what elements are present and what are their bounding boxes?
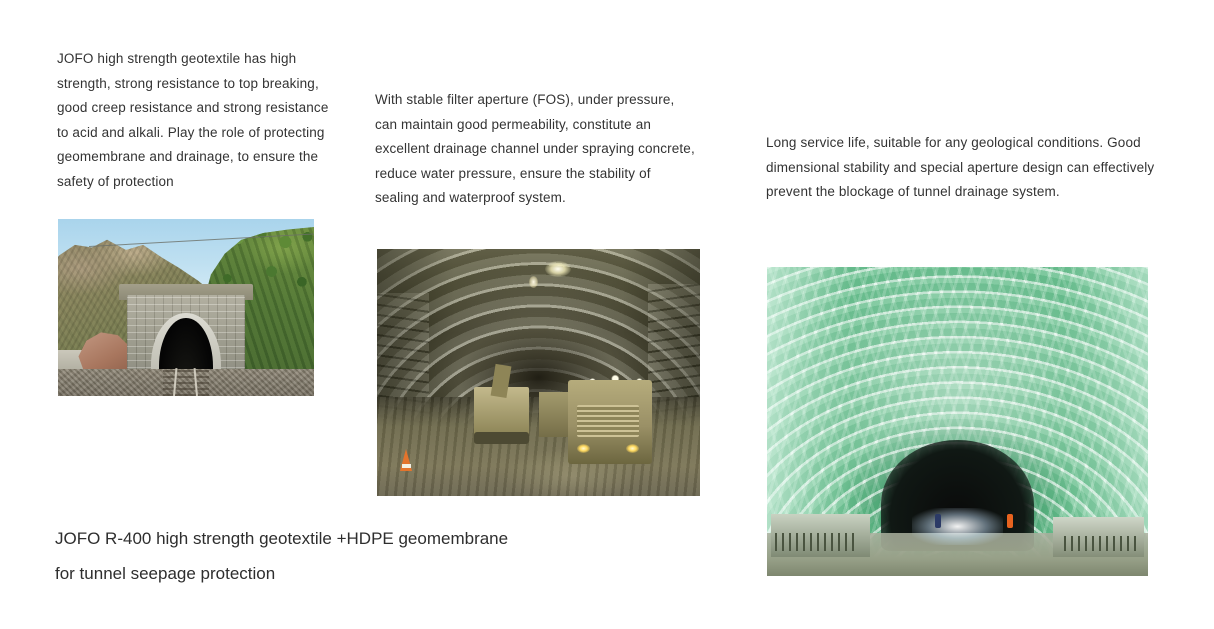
photo-tunnel-interior <box>377 249 700 496</box>
headlight-right <box>626 444 639 453</box>
excavator-track <box>474 432 529 444</box>
rail-sleepers <box>163 368 209 396</box>
feature-paragraph-strength: JOFO high strength geotextile has high s… <box>57 47 329 195</box>
worker-figure <box>1007 514 1013 528</box>
feature-paragraph-durability: Long service life, suitable for any geol… <box>766 131 1158 205</box>
work-area-glow <box>912 508 1003 545</box>
feature-paragraph-filtration: With stable filter aperture (FOS), under… <box>375 88 697 211</box>
photo-tunnel-portal <box>58 219 314 396</box>
scaffold-rail-right <box>1064 536 1140 551</box>
product-caption: JOFO R-400 high strength geotextile +HDP… <box>55 521 675 591</box>
truck-grille <box>577 405 638 437</box>
scaffold-rail-left <box>775 533 859 552</box>
traffic-cone-band <box>402 464 411 468</box>
hanging-bulb-icon <box>529 276 538 288</box>
slide-canvas: JOFO high strength geotextile has high s… <box>0 0 1214 629</box>
photo-geomembrane-lining <box>767 267 1148 576</box>
worker-figure <box>935 514 941 528</box>
